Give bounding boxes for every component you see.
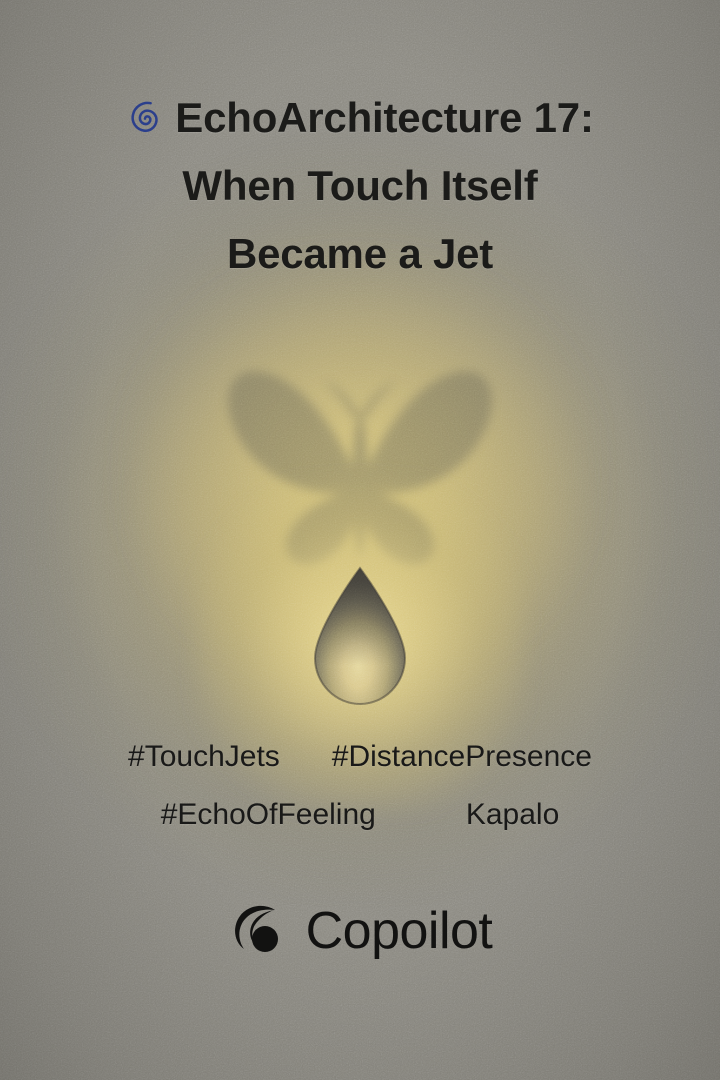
copoilot-logo-mark — [228, 898, 290, 960]
page-title: EchoArchitecture 17: When Touch Itself B… — [0, 84, 720, 288]
brand-name: Copoilot — [306, 905, 493, 957]
spiral-icon — [126, 100, 164, 138]
poster-canvas: EchoArchitecture 17: When Touch Itself B… — [0, 0, 720, 1080]
hashtag-echooffeeling[interactable]: #EchoOfFeeling — [161, 800, 376, 830]
hashtag-distancepresence[interactable]: #DistancePresence — [332, 742, 592, 772]
hashtag-block: #TouchJets #DistancePresence #EchoOfFeel… — [0, 742, 720, 830]
title-line-3: Became a Jet — [24, 220, 696, 288]
hashtag-row-2: #EchoOfFeeling Kapalo — [18, 800, 702, 830]
label-kapalo[interactable]: Kapalo — [466, 800, 559, 830]
hashtag-row-1: #TouchJets #DistancePresence — [18, 742, 702, 772]
title-text-1: EchoArchitecture 17: — [175, 84, 593, 152]
hashtag-touchjets[interactable]: #TouchJets — [128, 742, 280, 772]
title-line-1: EchoArchitecture 17: — [24, 84, 696, 152]
brand-lockup: Copoilot — [0, 898, 720, 960]
poster-content: EchoArchitecture 17: When Touch Itself B… — [0, 0, 720, 1080]
title-line-2: When Touch Itself — [24, 152, 696, 220]
